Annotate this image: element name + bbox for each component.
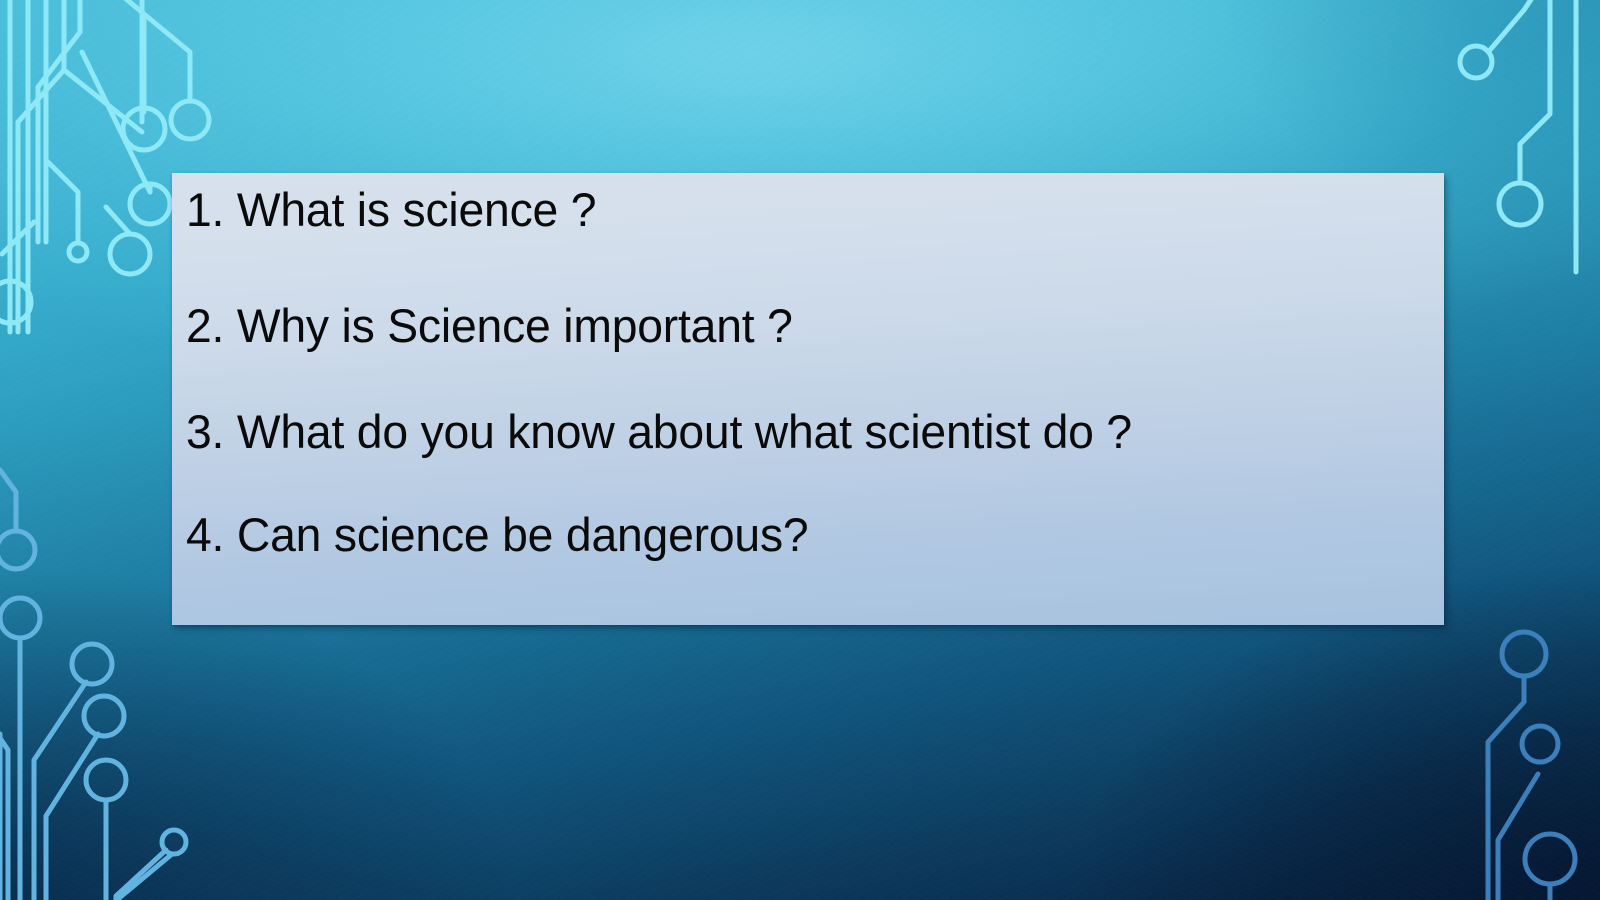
content-text-box[interactable]: 1. What is science ? 2. Why is Science i… xyxy=(172,173,1444,625)
question-list: 1. What is science ? 2. Why is Science i… xyxy=(186,185,1430,560)
presentation-slide: 1. What is science ? 2. Why is Science i… xyxy=(0,0,1600,900)
question-item-1: 1. What is science ? xyxy=(186,185,1411,235)
question-item-2: 2. Why is Science important ? xyxy=(186,301,1411,351)
question-item-4: 4. Can science be dangerous? xyxy=(186,510,1411,560)
question-item-3: 3. What do you know about what scientist… xyxy=(186,407,1411,457)
